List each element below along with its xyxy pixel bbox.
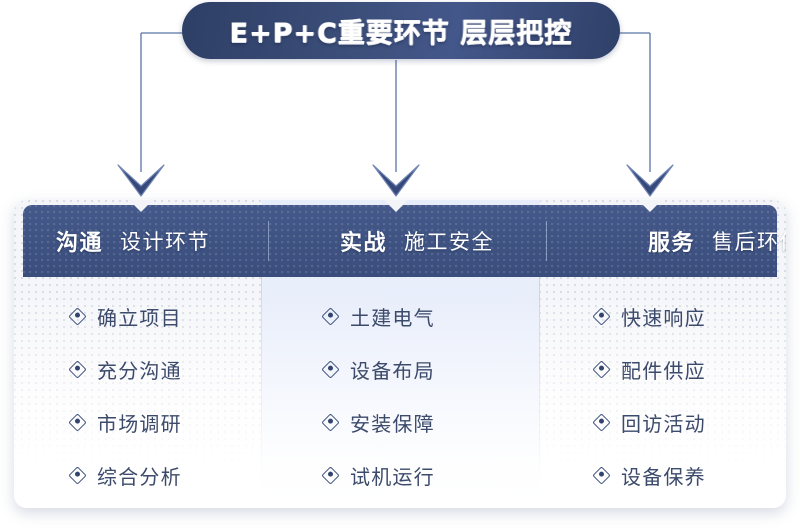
diamond-bullet-icon	[321, 413, 339, 431]
list-item[interactable]: 确立项目	[14, 290, 262, 343]
stages-header-row: 沟通 设计环节 实战 施工安全 服务 售后环保	[23, 205, 777, 277]
list-item[interactable]: 综合分析	[14, 449, 262, 502]
stage-header-phase-label: 设计环节	[120, 226, 210, 256]
list-item[interactable]: 快速响应	[540, 290, 786, 343]
diamond-bullet-icon	[592, 413, 610, 431]
list-item[interactable]: 回访活动	[540, 396, 786, 449]
stage-column-service: 快速响应 配件供应 回访活动 设备保养	[540, 277, 786, 508]
diagram-title-banner: E+P+C重要环节 层层把控	[182, 2, 620, 59]
list-item-label: 充分沟通	[97, 355, 182, 384]
list-item[interactable]: 市场调研	[14, 396, 262, 449]
list-item-label: 综合分析	[97, 461, 182, 490]
column-divider-1	[261, 277, 262, 485]
list-item[interactable]: 设备保养	[540, 449, 786, 502]
list-item-label: 试机运行	[350, 461, 435, 490]
list-item[interactable]: 充分沟通	[14, 343, 262, 396]
list-item-label: 设备保养	[621, 461, 706, 490]
list-item-label: 设备布局	[350, 355, 435, 384]
list-item-label: 安装保障	[350, 408, 435, 437]
diamond-bullet-icon	[592, 360, 610, 378]
list-item-label: 土建电气	[350, 302, 435, 331]
diagram-canvas: E+P+C重要环节 层层把控 沟通 设计环节 实战 施工安全 服务 售后环保	[0, 0, 800, 530]
stage-header-phase-label: 售后环保	[712, 226, 786, 256]
diamond-bullet-icon	[592, 307, 610, 325]
column-divider-2	[539, 277, 540, 485]
diamond-bullet-icon	[68, 360, 86, 378]
list-item[interactable]: 试机运行	[262, 449, 540, 502]
diamond-bullet-icon	[68, 307, 86, 325]
diamond-bullet-icon	[321, 360, 339, 378]
list-item[interactable]: 设备布局	[262, 343, 540, 396]
list-item-label: 回访活动	[621, 408, 706, 437]
list-item-label: 市场调研	[97, 408, 182, 437]
stages-panel: 沟通 设计环节 实战 施工安全 服务 售后环保 确立项目	[14, 200, 786, 508]
stage-header-strong-label: 服务	[648, 225, 695, 257]
stage-header-communication[interactable]: 沟通 设计环节	[23, 205, 302, 277]
stage-header-execution[interactable]: 实战 施工安全	[302, 205, 618, 277]
list-item-label: 配件供应	[621, 355, 706, 384]
list-item-label: 确立项目	[97, 302, 182, 331]
header-divider-1	[268, 221, 269, 261]
stage-header-strong-label: 沟通	[56, 225, 103, 257]
page-title: E+P+C重要环节 层层把控	[230, 11, 573, 50]
stage-header-service[interactable]: 服务 售后环保	[618, 205, 786, 277]
stages-columns: 确立项目 充分沟通 市场调研 综合分析 土建电气	[14, 277, 786, 508]
stage-column-communication: 确立项目 充分沟通 市场调研 综合分析	[14, 277, 262, 508]
stage-header-strong-label: 实战	[340, 225, 387, 257]
header-divider-2	[546, 221, 547, 261]
diamond-bullet-icon	[592, 466, 610, 484]
diamond-bullet-icon	[321, 307, 339, 325]
list-item[interactable]: 土建电气	[262, 290, 540, 343]
diamond-bullet-icon	[68, 466, 86, 484]
list-item[interactable]: 配件供应	[540, 343, 786, 396]
diamond-bullet-icon	[68, 413, 86, 431]
diamond-bullet-icon	[321, 466, 339, 484]
list-item[interactable]: 安装保障	[262, 396, 540, 449]
stage-column-execution: 土建电气 设备布局 安装保障 试机运行	[262, 277, 540, 508]
stage-header-phase-label: 施工安全	[404, 226, 494, 256]
list-item-label: 快速响应	[621, 302, 706, 331]
